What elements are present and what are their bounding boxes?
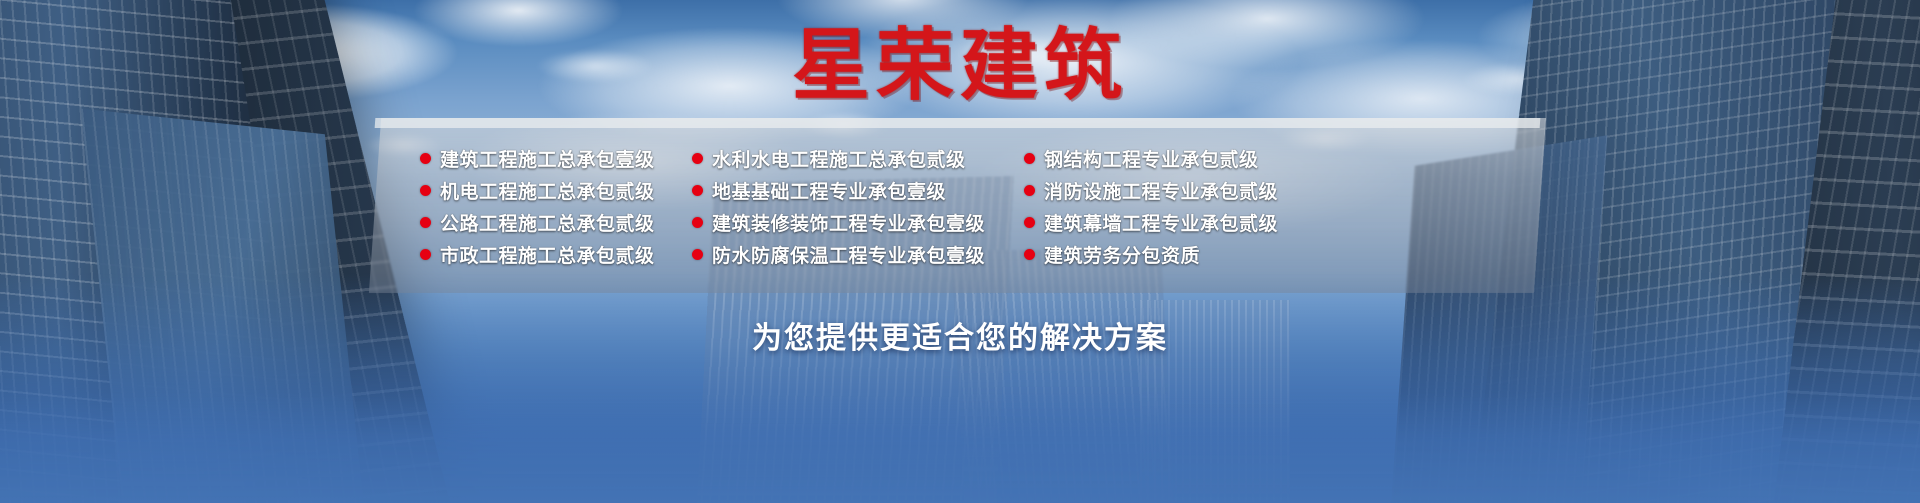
certificate-item: 建筑劳务分包资质 [1024, 238, 1284, 270]
certificate-label: 水利水电工程施工总承包贰级 [712, 145, 966, 172]
certificate-item: 建筑工程施工总承包壹级 [420, 142, 670, 174]
certificate-item: 机电工程施工总承包贰级 [420, 174, 670, 206]
bullet-dot-icon [692, 185, 703, 196]
certificate-item: 建筑装修装饰工程专业承包壹级 [692, 206, 1002, 238]
certificate-label: 市政工程施工总承包贰级 [440, 241, 655, 268]
certificate-label: 建筑工程施工总承包壹级 [440, 145, 655, 172]
certificate-label: 地基基础工程专业承包壹级 [712, 177, 946, 204]
bullet-dot-icon [1024, 249, 1035, 260]
certificate-item: 公路工程施工总承包贰级 [420, 206, 670, 238]
bullet-dot-icon [1024, 185, 1035, 196]
bullet-dot-icon [1024, 153, 1035, 164]
bullet-dot-icon [692, 217, 703, 228]
certificate-label: 钢结构工程专业承包贰级 [1044, 145, 1259, 172]
certificate-label: 建筑幕墙工程专业承包贰级 [1044, 209, 1278, 236]
certificate-item: 消防设施工程专业承包贰级 [1024, 174, 1284, 206]
certificate-item: 防水防腐保温工程专业承包壹级 [692, 238, 1002, 270]
bullet-dot-icon [692, 153, 703, 164]
certificate-label: 建筑装修装饰工程专业承包壹级 [712, 209, 985, 236]
certificate-label: 公路工程施工总承包贰级 [440, 209, 655, 236]
certificate-label: 防水防腐保温工程专业承包壹级 [712, 241, 985, 268]
bullet-dot-icon [420, 153, 431, 164]
certificate-item: 钢结构工程专业承包贰级 [1024, 142, 1284, 174]
bullet-dot-icon [420, 185, 431, 196]
certificate-item: 水利水电工程施工总承包贰级 [692, 142, 1002, 174]
certificate-label: 机电工程施工总承包贰级 [440, 177, 655, 204]
bullet-dot-icon [1024, 217, 1035, 228]
certificate-item: 建筑幕墙工程专业承包贰级 [1024, 206, 1284, 238]
bullet-dot-icon [420, 249, 431, 260]
certificate-item: 地基基础工程专业承包壹级 [692, 174, 1002, 206]
certificates-grid: 建筑工程施工总承包壹级 水利水电工程施工总承包贰级 钢结构工程专业承包贰级 机电… [420, 142, 1500, 270]
certificates-panel-highlight [375, 118, 1541, 128]
banner-content: 星荣建筑 建筑工程施工总承包壹级 水利水电工程施工总承包贰级 钢结构工程专业承包… [0, 0, 1920, 503]
certificate-label: 消防设施工程专业承包贰级 [1044, 177, 1278, 204]
hero-banner: 星荣建筑 建筑工程施工总承包壹级 水利水电工程施工总承包贰级 钢结构工程专业承包… [0, 0, 1920, 503]
certificate-label: 建筑劳务分包资质 [1044, 241, 1200, 268]
certificate-item: 市政工程施工总承包贰级 [420, 238, 670, 270]
banner-tagline: 为您提供更适合您的解决方案 [0, 313, 1920, 357]
bullet-dot-icon [420, 217, 431, 228]
bullet-dot-icon [692, 249, 703, 260]
brand-title: 星荣建筑 [0, 26, 1920, 104]
